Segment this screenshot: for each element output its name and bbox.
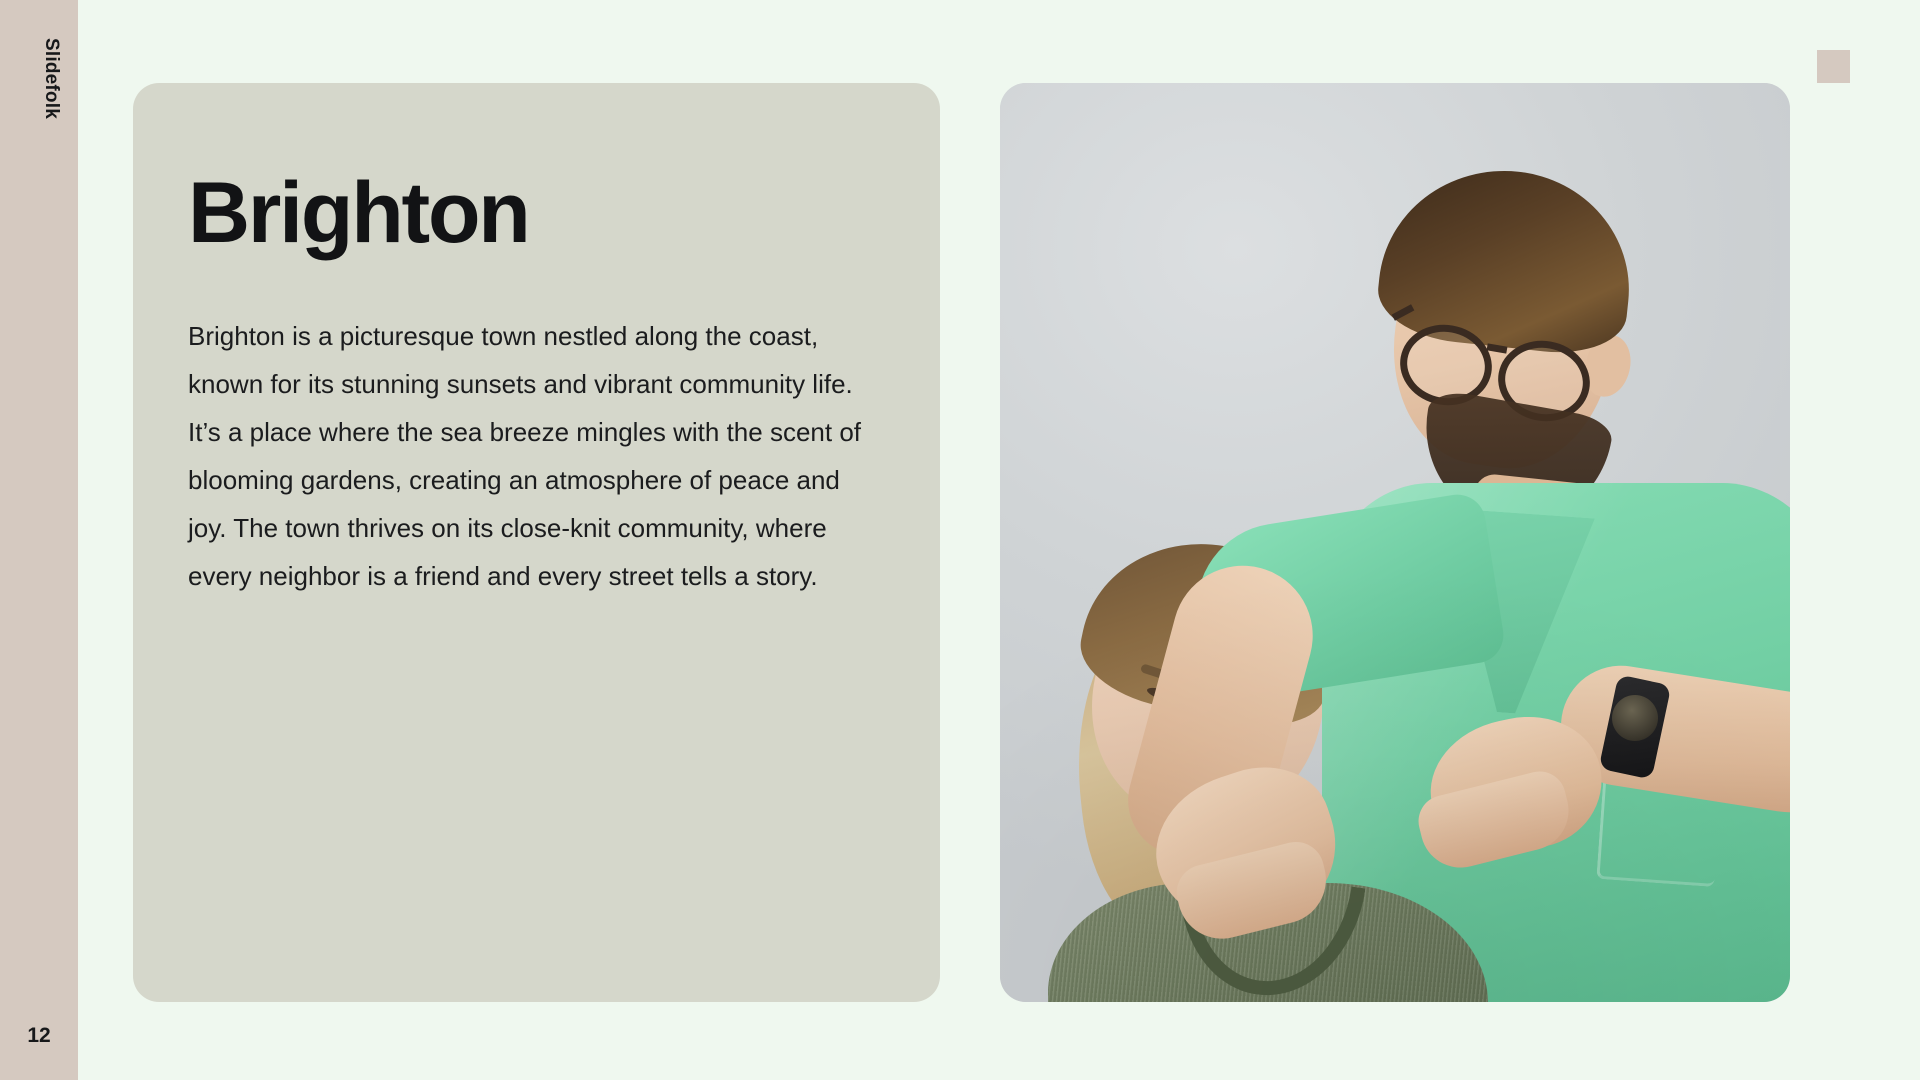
- slide-canvas: Slidefolk 12 Brighton Brighton is a pict…: [0, 0, 1920, 1080]
- photo-illustration: [1000, 83, 1790, 1002]
- page-title: Brighton: [188, 170, 884, 256]
- page-number: 12: [0, 1024, 78, 1048]
- photo-card: [1000, 83, 1790, 1002]
- decorative-square: [1817, 50, 1850, 83]
- therapist-hair: [1373, 158, 1640, 359]
- sidebar-rail: Slidefolk 12: [0, 0, 78, 1080]
- body-paragraph: Brighton is a picturesque town nestled a…: [188, 312, 884, 600]
- brand-label: Slidefolk: [40, 38, 62, 116]
- text-card: Brighton Brighton is a picturesque town …: [133, 83, 940, 1002]
